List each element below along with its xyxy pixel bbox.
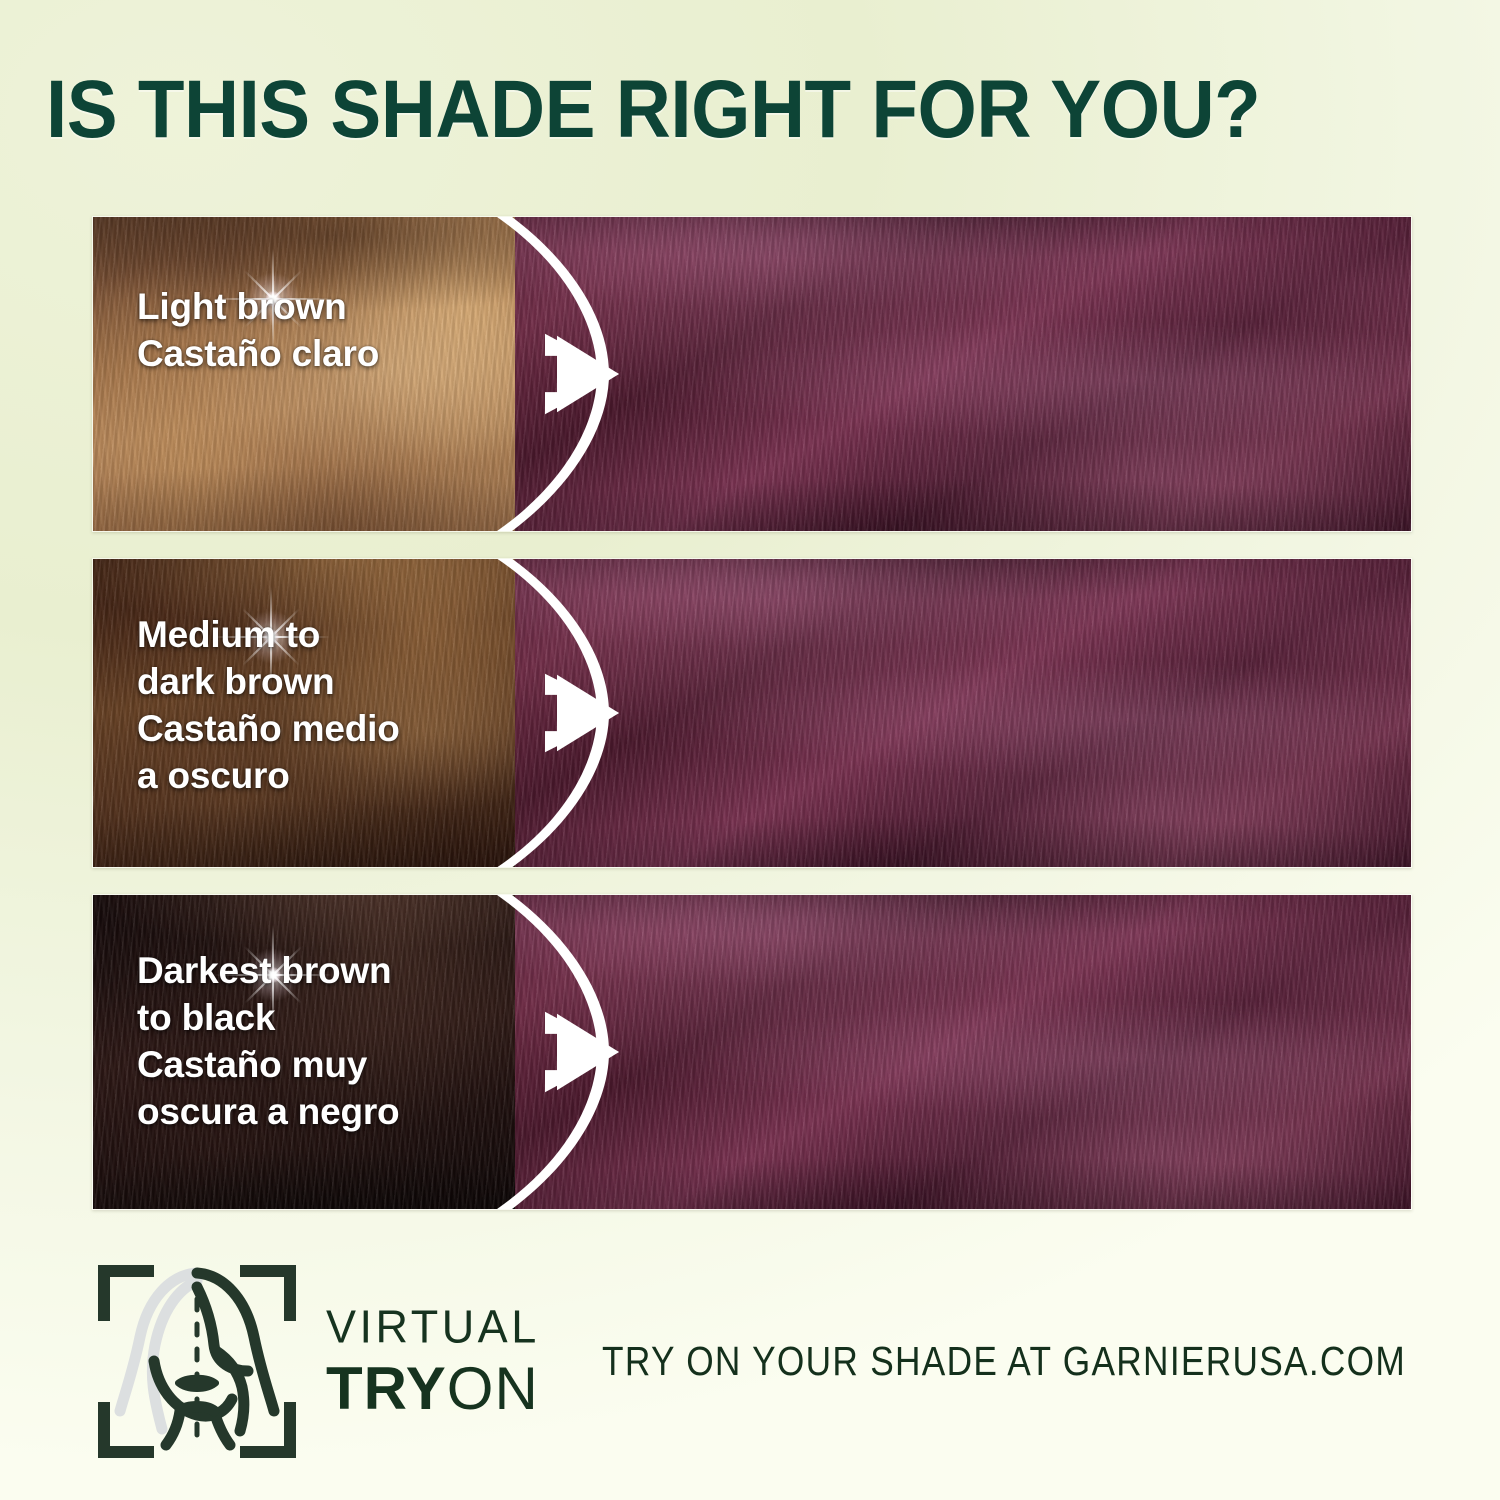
virtual-try-on-logo[interactable]: VIRTUAL TRYON	[92, 1259, 540, 1464]
shade-panel-medium-dark-brown[interactable]: Medium to dark brown Castaño medio a osc…	[92, 558, 1412, 868]
shade-panel-label: Darkest brown to black Castaño muy oscur…	[137, 947, 399, 1135]
face-scan-icon	[92, 1259, 302, 1464]
try-on-tagline: TRY ON YOUR SHADE AT GARNIERUSA.COM	[602, 1338, 1406, 1385]
shade-comparison-list: Light brown Castaño claro	[92, 216, 1412, 1210]
on-label: ON	[447, 1355, 539, 1422]
shade-panel-light-brown[interactable]: Light brown Castaño claro	[92, 216, 1412, 532]
result-hair-swatch	[515, 559, 1411, 867]
virtual-label: VIRTUAL	[326, 1303, 540, 1349]
shade-panel-darkest-brown-black[interactable]: Darkest brown to black Castaño muy oscur…	[92, 894, 1412, 1210]
result-hair-swatch	[515, 895, 1411, 1209]
try-label: TRY	[326, 1355, 447, 1422]
page-title: IS THIS SHADE RIGHT FOR YOU?	[46, 64, 1260, 156]
footer: VIRTUAL TRYON TRY ON YOUR SHADE AT GARNI…	[92, 1256, 1422, 1466]
shade-panel-label: Medium to dark brown Castaño medio a osc…	[137, 611, 400, 799]
result-hair-swatch	[515, 217, 1411, 531]
shade-panel-label: Light brown Castaño claro	[137, 283, 379, 377]
